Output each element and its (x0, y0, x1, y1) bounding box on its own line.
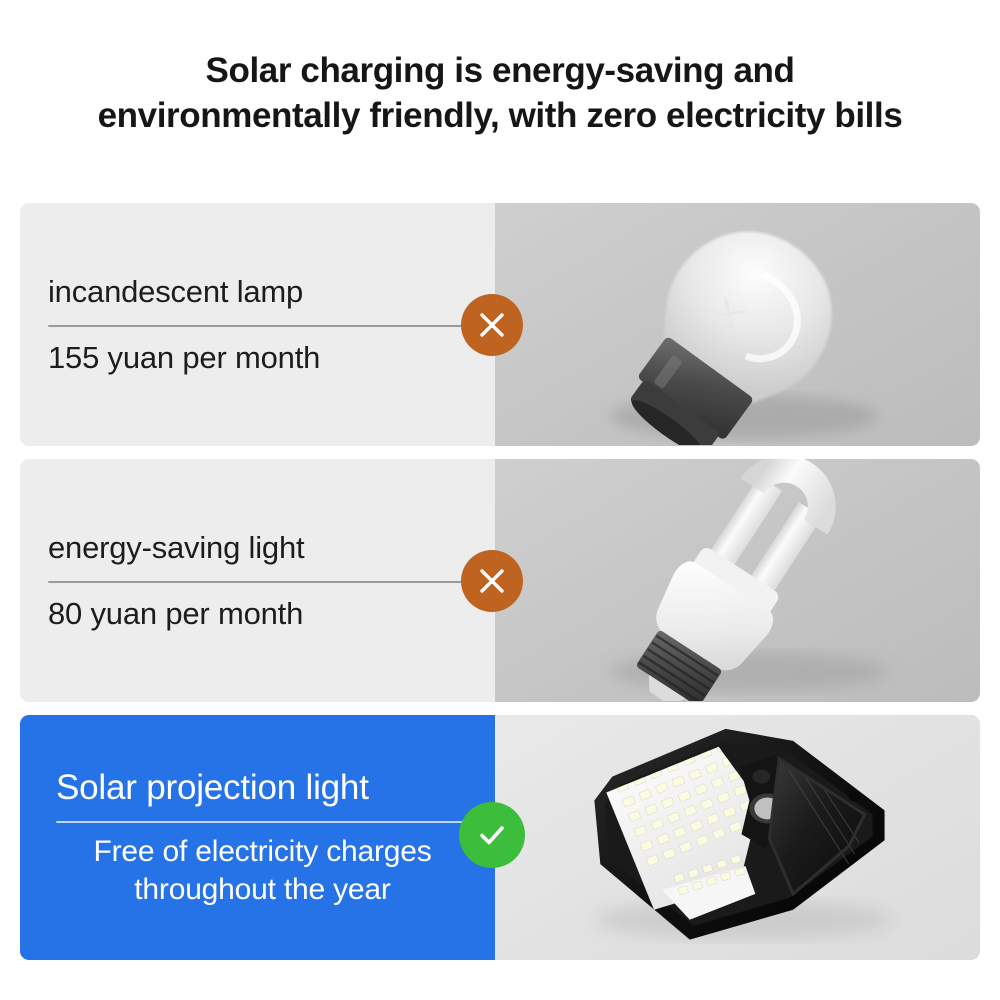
product-name-label: energy-saving light (48, 529, 481, 567)
product-photo-solar-projection-light (495, 715, 980, 960)
product-name-label: Solar projection light (56, 767, 469, 809)
comparison-row-text: incandescent lamp 155 yuan per month (48, 273, 481, 377)
comparison-row-text-panel: energy-saving light 80 yuan per month (20, 459, 495, 702)
product-cost-label: 155 yuan per month (48, 339, 481, 377)
cross-icon (475, 308, 509, 342)
page-title-line-2: environmentally friendly, with zero elec… (0, 93, 1000, 138)
product-name-label: incandescent lamp (48, 273, 481, 311)
divider (48, 581, 481, 583)
comparison-row-text-panel-highlighted: Solar projection light Free of electrici… (20, 715, 495, 960)
comparison-row-text: energy-saving light 80 yuan per month (48, 529, 481, 633)
cfl-bulb-icon (495, 459, 980, 701)
comparison-row-text: Solar projection light Free of electrici… (56, 767, 469, 909)
incandescent-bulb-icon (495, 203, 980, 445)
comparison-row-text-panel: incandescent lamp 155 yuan per month (20, 203, 495, 446)
status-badge-cross (461, 294, 523, 356)
status-badge-check (459, 802, 525, 868)
page-title: Solar charging is energy-saving and envi… (0, 48, 1000, 138)
page-title-line-1: Solar charging is energy-saving and (0, 48, 1000, 93)
divider (48, 325, 481, 327)
product-cost-label: Free of electricity charges throughout t… (56, 833, 469, 909)
cross-icon (475, 564, 509, 598)
product-photo-cfl-bulb (495, 459, 980, 702)
solar-light-icon (495, 715, 980, 958)
divider (56, 821, 469, 823)
product-photo-incandescent-bulb (495, 203, 980, 446)
status-badge-cross (461, 550, 523, 612)
check-icon (473, 816, 511, 854)
product-cost-label: 80 yuan per month (48, 595, 481, 633)
